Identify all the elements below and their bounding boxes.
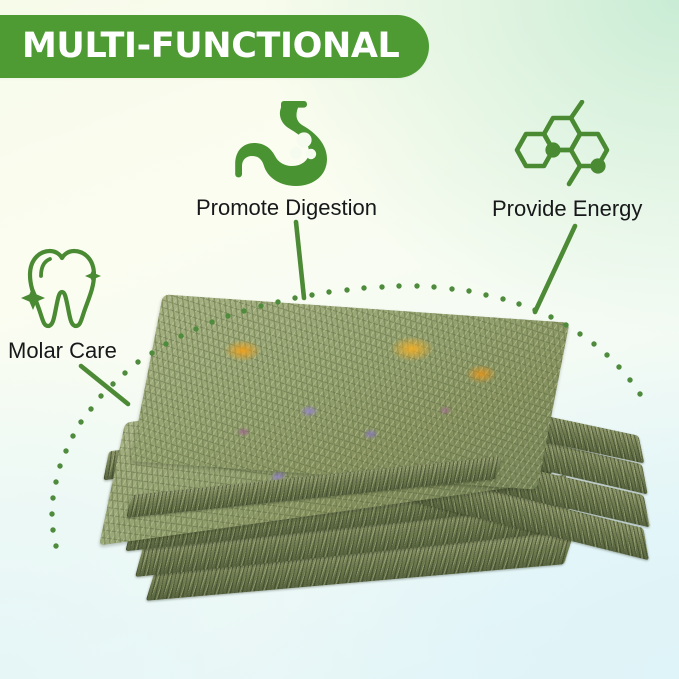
infographic-canvas: MULTI-FUNCTIONAL Molar Care Promote Dige… <box>0 0 679 679</box>
product-slab-top-face <box>131 294 570 489</box>
page-title: MULTI-FUNCTIONAL <box>22 29 399 64</box>
feature-provide-energy[interactable]: Provide Energy <box>492 100 642 222</box>
connector-digestion <box>296 222 304 298</box>
feature-molar-care[interactable]: Molar Care <box>8 242 117 364</box>
product-image <box>92 300 652 672</box>
feature-label-provide-energy: Provide Energy <box>492 196 642 222</box>
tooth-icon <box>10 242 114 334</box>
stomach-icon <box>226 96 346 191</box>
molecule-node-dot <box>591 158 606 173</box>
molecule-node-dot <box>546 142 561 157</box>
molecule-icon <box>506 100 628 192</box>
feature-label-promote-digestion: Promote Digestion <box>196 195 377 221</box>
feature-promote-digestion[interactable]: Promote Digestion <box>196 96 377 221</box>
title-banner: MULTI-FUNCTIONAL <box>0 15 429 78</box>
feature-label-molar-care: Molar Care <box>8 338 117 364</box>
